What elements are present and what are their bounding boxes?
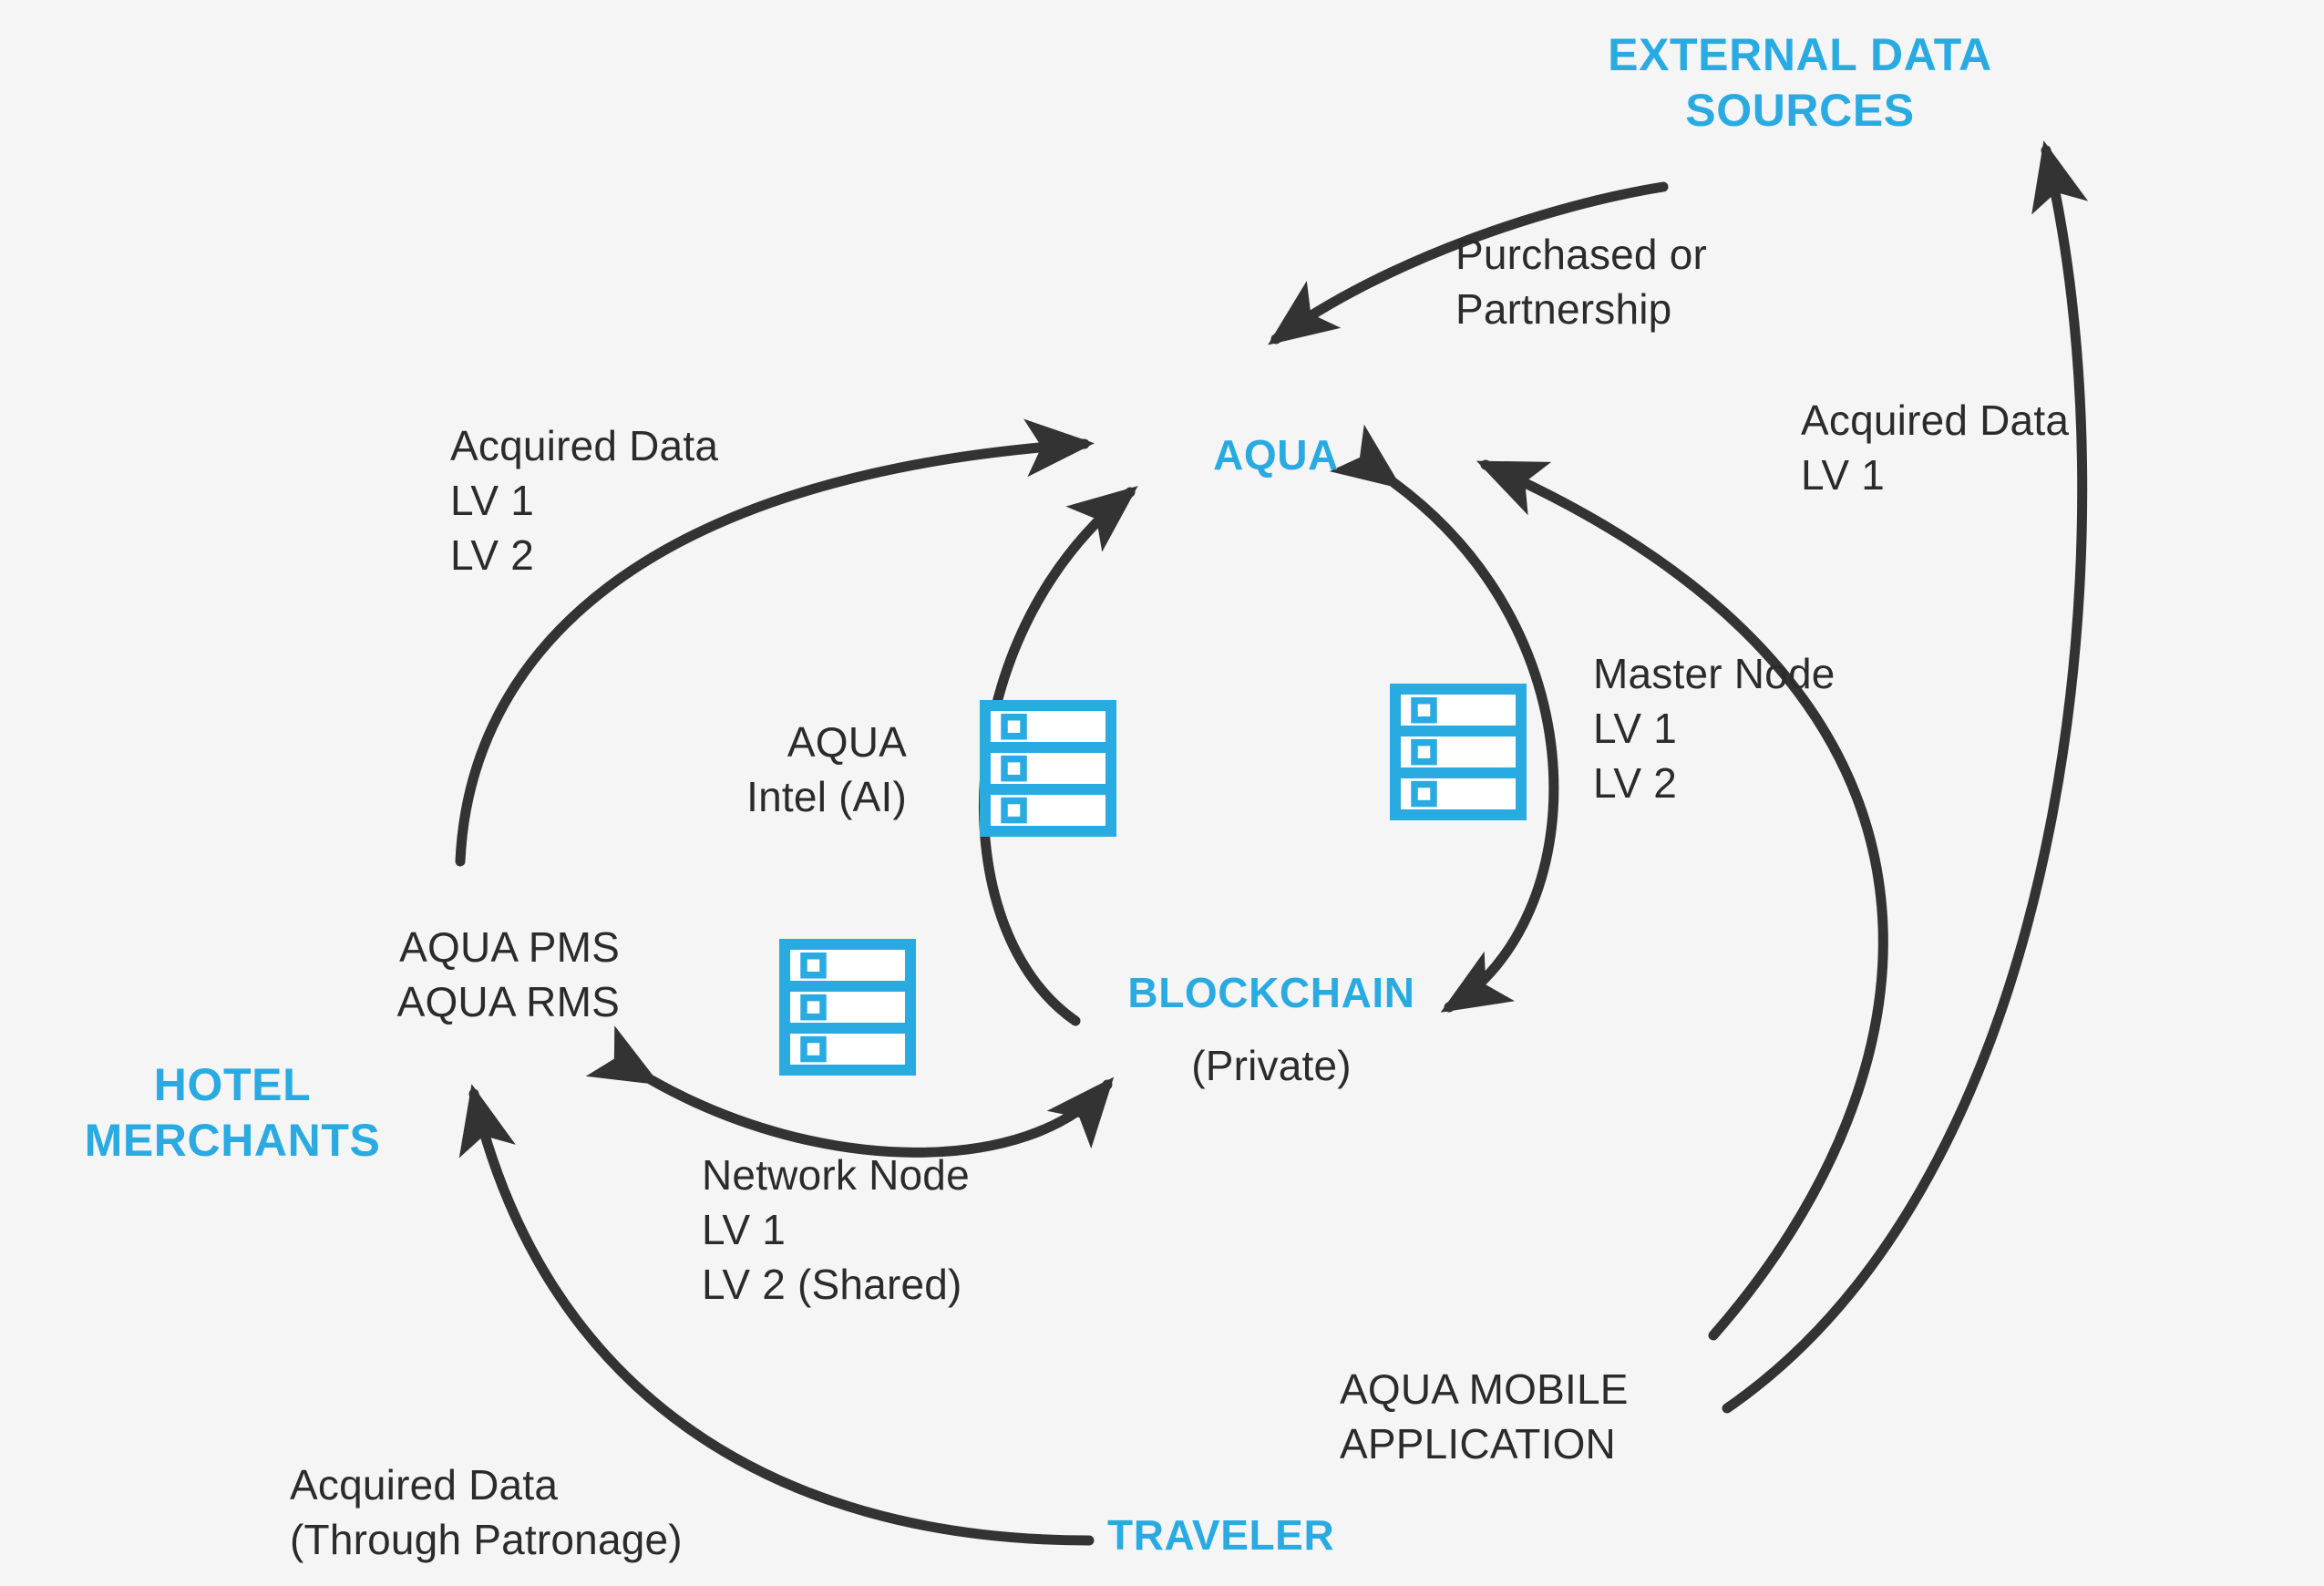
server-rack-icon-network-node — [779, 939, 916, 1076]
node-aqua[interactable]: AQUA — [1194, 428, 1358, 483]
diagram-canvas: EXTERNAL DATA SOURCES AQUA BLOCKCHAIN (P… — [0, 0, 2324, 1586]
blockchain-subtitle: (Private) — [1116, 1039, 1426, 1094]
label-network-node: Network Node LV 1 LV 2 (Shared) — [702, 1148, 970, 1312]
edge-pms-rms-blockchain-network-node — [652, 1080, 1107, 1152]
label-aqua-pms-rms: AQUA PMS AQUA RMS — [260, 921, 620, 1030]
node-traveler[interactable]: TRAVELER — [1107, 1509, 1381, 1563]
node-hotel-merchants[interactable]: HOTEL MERCHANTS — [64, 1057, 401, 1169]
label-aqua-intel: AQUA Intel (AI) — [633, 716, 907, 825]
server-rack-icon-aqua-intel — [980, 700, 1116, 837]
label-acquired-data-hotel: Acquired Data LV 1 LV 2 — [450, 419, 718, 582]
node-blockchain[interactable]: BLOCKCHAIN — [1116, 966, 1426, 1021]
label-master-node: Master Node LV 1 LV 2 — [1593, 647, 1836, 810]
node-external-data-sources[interactable]: EXTERNAL DATA SOURCES — [1554, 27, 2046, 139]
label-acquired-data-patronage: Acquired Data (Through Patronage) — [290, 1458, 683, 1568]
connector-layer — [0, 0, 2324, 1586]
label-purchased-or-partnership: Purchased or Partnership — [1455, 228, 1707, 337]
server-rack-icon-master-node — [1390, 684, 1527, 820]
node-aqua-mobile-application[interactable]: AQUA MOBILE APPLICATION — [1340, 1363, 1722, 1472]
edge-mobile-app-to-aqua — [1486, 465, 1883, 1335]
label-acquired-data-mobile: Acquired Data LV 1 — [1801, 394, 2069, 503]
